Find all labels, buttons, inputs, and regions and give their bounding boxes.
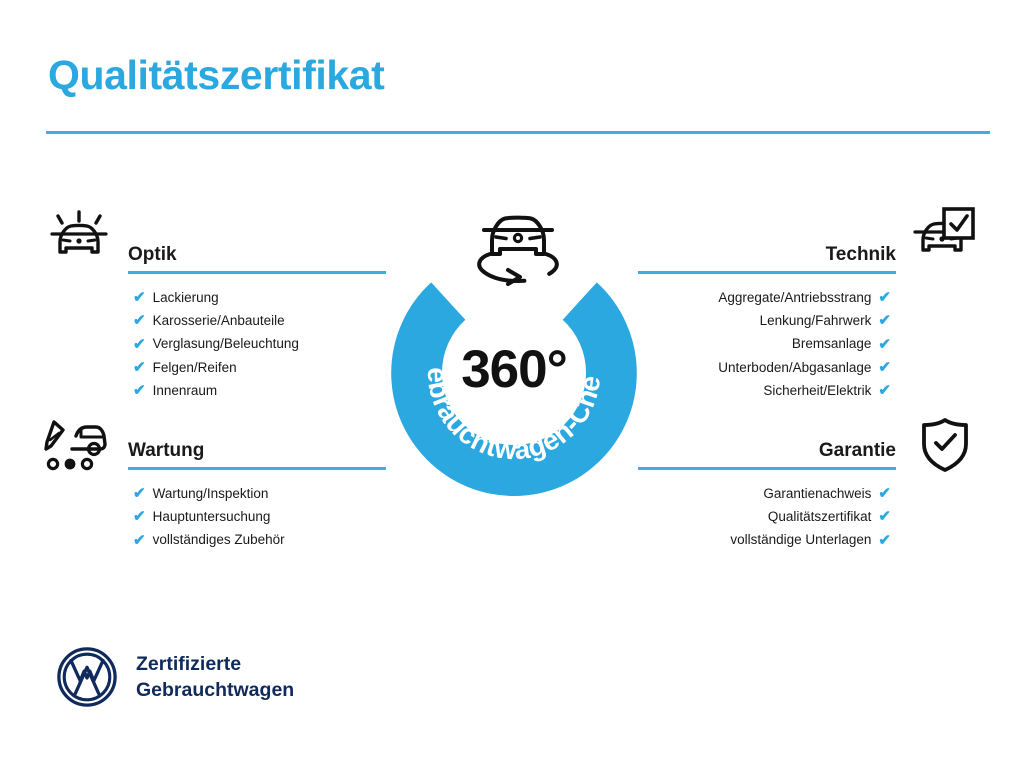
shield-check-icon	[916, 414, 974, 481]
vw-logo-icon	[56, 646, 118, 708]
list-item-label: Wartung/Inspektion	[153, 482, 269, 505]
list-item-label: Sicherheit/Elektrik	[763, 379, 871, 402]
car-shine-icon	[46, 204, 112, 271]
list-item: vollständige Unterlagen ✔	[638, 528, 891, 551]
list-item-label: Qualitätszertifikat	[768, 505, 872, 528]
section-wartung-underline	[128, 467, 386, 470]
list-item-label: vollständiges Zubehör	[153, 528, 285, 551]
list-item-label: Hauptuntersuchung	[153, 505, 271, 528]
vw-footer-line2: Gebrauchtwagen	[136, 677, 294, 703]
check-icon: ✔	[878, 313, 891, 328]
section-technik: Technik Aggregate/Antriebsstrang ✔ Lenku…	[638, 234, 896, 402]
check-icon: ✔	[133, 337, 146, 352]
list-item-label: Felgen/Reifen	[153, 356, 237, 379]
check-icon: ✔	[133, 290, 146, 305]
section-garantie-underline	[638, 467, 896, 470]
car-pencil-icon	[42, 416, 114, 483]
list-item-label: Bremsanlage	[792, 332, 872, 355]
vw-footer-line1: Zertifizierte	[136, 651, 294, 677]
vw-footer-logo: Zertifizierte Gebrauchtwagen	[56, 646, 294, 708]
section-wartung-header: Wartung	[128, 430, 386, 470]
section-technik-title: Technik	[826, 244, 896, 266]
list-item-label: Aggregate/Antriebsstrang	[718, 286, 871, 309]
check-icon: ✔	[133, 486, 146, 501]
car-rotation-icon	[468, 196, 568, 288]
list-item: Bremsanlage ✔	[638, 332, 891, 355]
list-item-label: Lackierung	[153, 286, 219, 309]
check-icon: ✔	[878, 486, 891, 501]
list-item-label: Karosserie/Anbauteile	[153, 309, 285, 332]
section-wartung: Wartung ✔ Wartung/Inspektion ✔ Hauptunte…	[128, 430, 386, 552]
car-checkbox-icon	[912, 204, 978, 271]
list-item-label: Lenkung/Fahrwerk	[760, 309, 872, 332]
list-item-label: Innenraum	[153, 379, 218, 402]
check-icon: ✔	[878, 337, 891, 352]
section-technik-underline	[638, 271, 896, 274]
list-item-label: vollständige Unterlagen	[730, 528, 871, 551]
check-icon: ✔	[878, 509, 891, 524]
gebrauchtwagen-check-badge: Gebrauchtwagen-Check 360°	[376, 196, 652, 496]
section-wartung-title: Wartung	[128, 440, 204, 462]
section-garantie-list: Garantienachweis ✔ Qualitätszertifikat ✔…	[638, 482, 891, 552]
section-garantie-header: Garantie	[638, 430, 896, 470]
check-icon: ✔	[133, 509, 146, 524]
section-technik-header: Technik	[638, 234, 896, 274]
list-item-label: Garantienachweis	[763, 482, 871, 505]
list-item-label: Verglasung/Beleuchtung	[153, 332, 299, 355]
list-item: Aggregate/Antriebsstrang ✔	[638, 286, 891, 309]
list-item: ✔ Hauptuntersuchung	[133, 505, 386, 528]
list-item-label: Unterboden/Abgasanlage	[718, 356, 871, 379]
list-item: ✔ Verglasung/Beleuchtung	[133, 332, 386, 355]
list-item: Qualitätszertifikat ✔	[638, 505, 891, 528]
list-item: ✔ Felgen/Reifen	[133, 356, 386, 379]
list-item: Unterboden/Abgasanlage ✔	[638, 356, 891, 379]
section-wartung-list: ✔ Wartung/Inspektion ✔ Hauptuntersuchung…	[133, 482, 386, 552]
section-garantie-title: Garantie	[819, 440, 896, 462]
certificate-page: Qualitätszertifikat Optik ✔ Lackierung	[0, 0, 1024, 768]
check-icon: ✔	[878, 383, 891, 398]
list-item: Garantienachweis ✔	[638, 482, 891, 505]
list-item: ✔ Wartung/Inspektion	[133, 482, 386, 505]
section-optik-title: Optik	[128, 244, 177, 266]
section-optik-list: ✔ Lackierung ✔ Karosserie/Anbauteile ✔ V…	[133, 286, 386, 402]
check-icon: ✔	[133, 313, 146, 328]
page-title: Qualitätszertifikat	[48, 52, 384, 99]
check-icon: ✔	[878, 360, 891, 375]
check-icon: ✔	[133, 533, 146, 548]
list-item: ✔ Karosserie/Anbauteile	[133, 309, 386, 332]
list-item: ✔ Innenraum	[133, 379, 386, 402]
list-item: Lenkung/Fahrwerk ✔	[638, 309, 891, 332]
header-divider	[46, 131, 990, 134]
section-garantie: Garantie Garantienachweis ✔ Qualitätszer…	[638, 430, 896, 552]
vw-footer-text: Zertifizierte Gebrauchtwagen	[136, 651, 294, 703]
section-optik-header: Optik	[128, 234, 386, 274]
list-item: ✔ Lackierung	[133, 286, 386, 309]
check-icon: ✔	[878, 290, 891, 305]
section-technik-list: Aggregate/Antriebsstrang ✔ Lenkung/Fahrw…	[638, 286, 891, 402]
check-icon: ✔	[878, 533, 891, 548]
check-icon: ✔	[133, 360, 146, 375]
section-optik-underline	[128, 271, 386, 274]
list-item: ✔ vollständiges Zubehör	[133, 528, 386, 551]
check-icon: ✔	[133, 383, 146, 398]
list-item: Sicherheit/Elektrik ✔	[638, 379, 891, 402]
section-optik: Optik ✔ Lackierung ✔ Karosserie/Anbautei…	[128, 234, 386, 402]
